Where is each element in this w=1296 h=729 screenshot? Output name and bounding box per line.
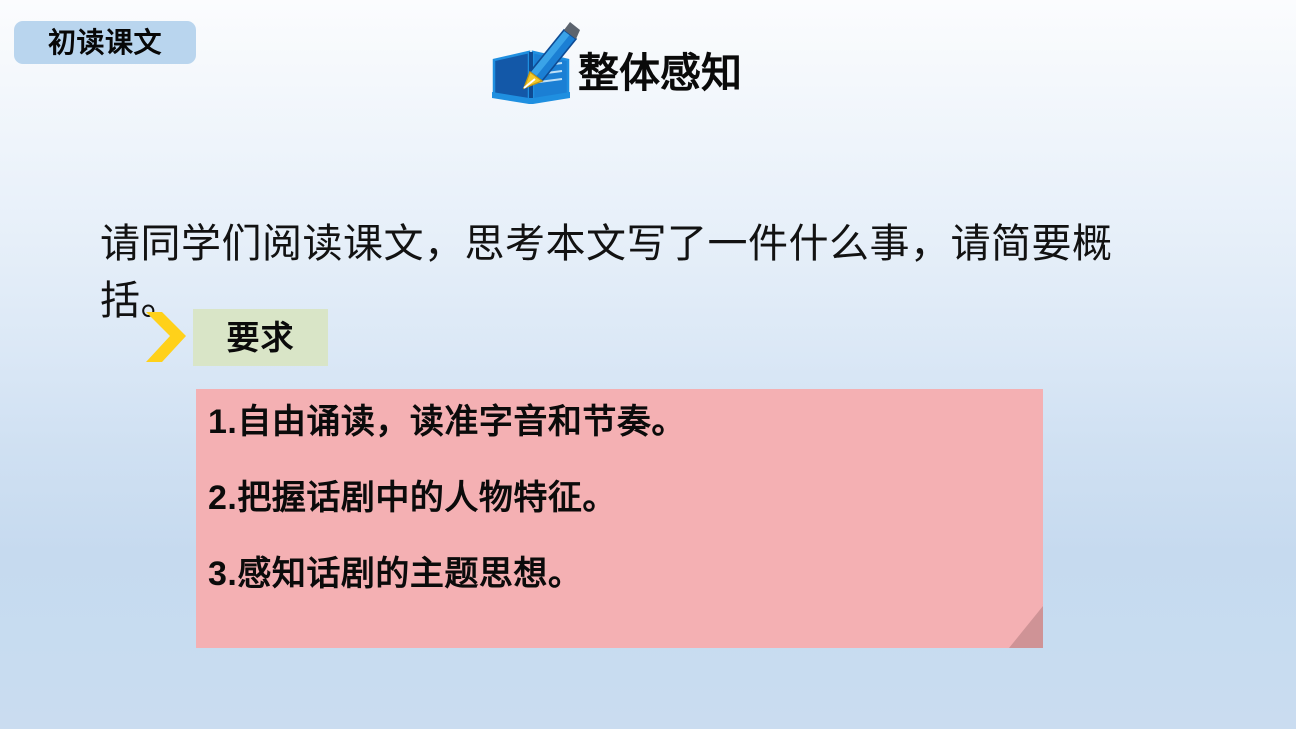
section-badge-label: 初读课文: [48, 29, 162, 57]
book-with-pen-icon: [486, 16, 582, 108]
requirement-item: 1.自由诵读，读准字音和节奏。: [208, 405, 1031, 439]
requirements-card: 1.自由诵读，读准字音和节奏。 2.把握话剧中的人物特征。 3.感知话剧的主题思…: [196, 389, 1043, 648]
chevron-right-icon: [144, 308, 190, 366]
slide-heading: 整体感知: [486, 16, 742, 108]
section-badge: 初读课文: [14, 21, 196, 64]
requirement-item: 2.把握话剧中的人物特征。: [208, 481, 1031, 515]
heading-title: 整体感知: [578, 53, 742, 94]
slide-canvas: 初读课文: [0, 0, 1296, 729]
requirement-label-box: 要求: [193, 309, 328, 366]
requirement-item: 3.感知话剧的主题思想。: [208, 557, 1031, 591]
requirement-label-text: 要求: [227, 321, 295, 354]
requirements-list: 1.自由诵读，读准字音和节奏。 2.把握话剧中的人物特征。 3.感知话剧的主题思…: [208, 405, 1031, 591]
requirement-label-row: 要求: [144, 308, 328, 366]
